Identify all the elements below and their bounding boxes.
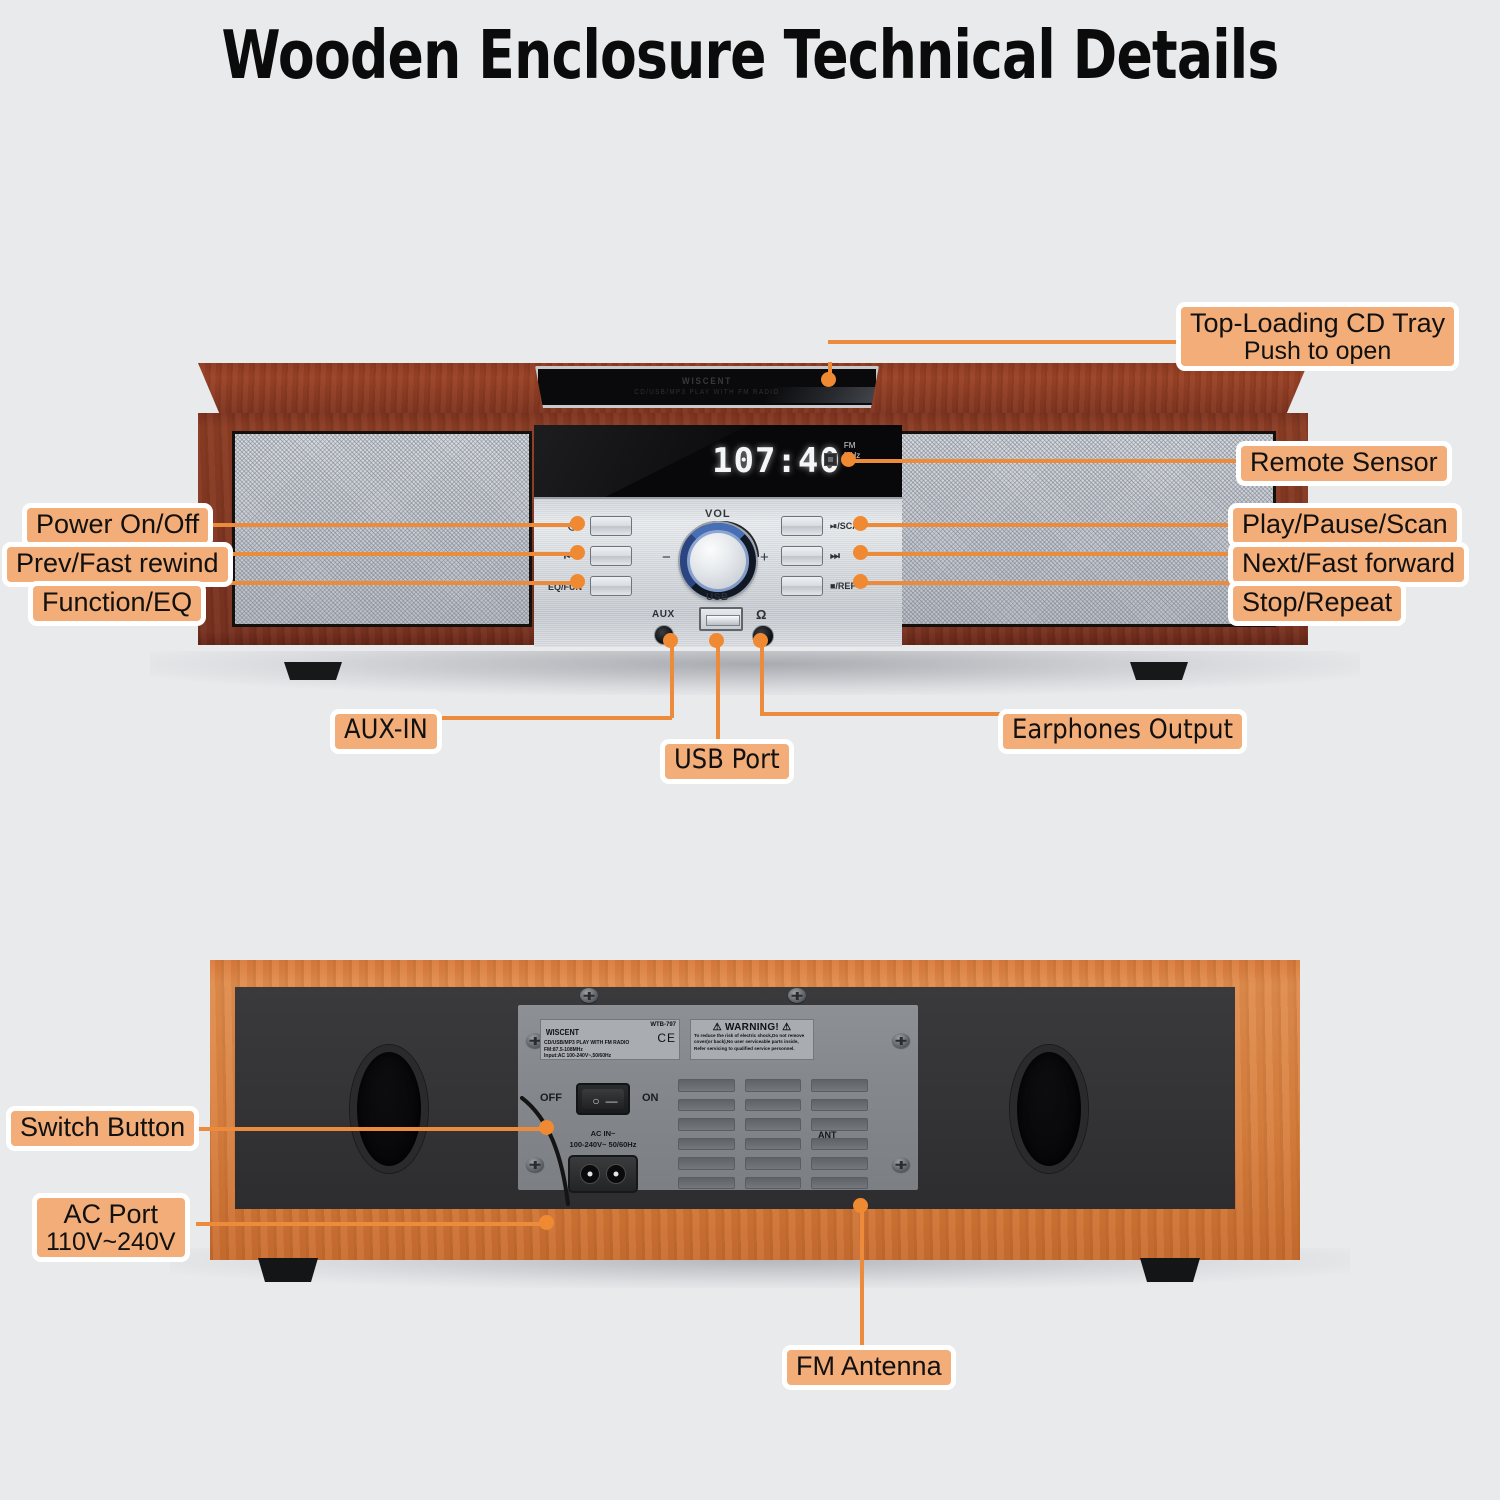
leader-dot-ac-port xyxy=(539,1215,554,1230)
callout-next-text: Next/Fast forward xyxy=(1242,548,1455,578)
leader-aux-h xyxy=(442,716,672,720)
rear-foot-left xyxy=(258,1258,318,1282)
led-display: 107:40FMMHz xyxy=(712,441,860,481)
callout-ac-port: AC Port 110V~240V xyxy=(32,1193,190,1262)
leader-dot-earphones xyxy=(753,633,768,648)
leader-switch-button xyxy=(196,1127,546,1131)
vent-slot xyxy=(745,1157,802,1170)
ac-inlet-hole-left xyxy=(580,1164,600,1184)
callout-stop-repeat-text: Stop/Repeat xyxy=(1242,587,1392,617)
warning-line-3: Refer servicing to qualified service per… xyxy=(694,1046,810,1052)
ac-inlet-hole-right xyxy=(606,1164,626,1184)
page-title: Wooden Enclosure Technical Details xyxy=(150,16,1350,94)
callout-play-pause-scan: Play/Pause/Scan xyxy=(1228,503,1462,548)
callout-aux-in: AUX-IN xyxy=(330,709,442,754)
callout-fm-antenna: FM Antenna xyxy=(782,1345,956,1390)
control-panel: ⏻ ⏮ EQ/FUN VOL − + ⏯/SCAN ⏭ ■/REP AUX US… xyxy=(534,497,902,647)
switch-bar-icon: — xyxy=(606,1094,618,1108)
headphone-icon: Ω xyxy=(756,607,767,622)
callout-usb-port: USB Port xyxy=(660,739,794,784)
vent-slot xyxy=(811,1099,868,1112)
vent-slot xyxy=(678,1138,735,1151)
leader-dot-stop-repeat xyxy=(853,574,868,589)
cd-tray-sheen xyxy=(765,387,879,403)
leader-cd-tray-h xyxy=(828,340,1180,344)
callout-switch-button-text: Switch Button xyxy=(20,1112,185,1142)
bass-port-right xyxy=(1010,1045,1088,1173)
callout-prev: Prev/Fast rewind xyxy=(2,542,233,587)
vent-slot xyxy=(745,1079,802,1092)
front-unit: WISCENT CD/USB/MP3 PLAY WITH FM RADIO 10… xyxy=(198,363,1308,663)
leader-function-eq xyxy=(186,581,576,585)
leader-aux-v xyxy=(670,640,674,718)
vent-slot xyxy=(678,1099,735,1112)
spec-line-1: CD/USB/MP3 PLAY WITH FM RADIO xyxy=(544,1040,676,1047)
leader-dot-remote-sensor xyxy=(841,452,856,467)
callout-fm-antenna-text: FM Antenna xyxy=(796,1351,942,1381)
usb-port[interactable] xyxy=(699,607,743,631)
vent-slot xyxy=(811,1177,868,1190)
power-switch-glyphs: ○ — xyxy=(578,1085,632,1117)
speaker-grille-left xyxy=(232,431,532,627)
led-value: 107:40 xyxy=(712,441,841,481)
next-button[interactable] xyxy=(781,546,823,566)
volume-label: VOL xyxy=(705,508,731,520)
aux-label: AUX xyxy=(652,609,675,620)
leader-dot-switch-button xyxy=(539,1120,554,1135)
callout-remote-sensor-text: Remote Sensor xyxy=(1250,447,1438,477)
leader-dot-usb xyxy=(709,633,724,648)
leader-earphones-h xyxy=(760,712,1005,716)
play-pause-scan-button[interactable] xyxy=(781,516,823,536)
rear-unit: WTB-797 WISCENT CD/USB/MP3 PLAY WITH FM … xyxy=(210,960,1300,1260)
callout-next: Next/Fast forward xyxy=(1228,542,1469,587)
callout-stop-repeat: Stop/Repeat xyxy=(1228,581,1406,626)
vent-slot xyxy=(811,1079,868,1092)
leader-earphones-v xyxy=(760,640,764,714)
vent-slot xyxy=(745,1177,802,1190)
rear-foot-right xyxy=(1140,1258,1200,1282)
leader-dot-cd-tray xyxy=(821,372,836,387)
leader-play-pause xyxy=(860,523,1238,527)
plate-screw-bottom-right xyxy=(892,1157,910,1172)
callout-function-eq: Function/EQ xyxy=(28,581,206,626)
leader-dot-power xyxy=(570,516,585,531)
leader-remote-sensor xyxy=(848,459,1238,463)
callout-ac-port-sub: 110V~240V xyxy=(46,1229,176,1256)
next-icon: ⏭ xyxy=(830,550,840,563)
plate-screw-top-right xyxy=(892,1033,910,1048)
rear-service-plate: WTB-797 WISCENT CD/USB/MP3 PLAY WITH FM … xyxy=(518,1005,918,1190)
leader-usb-v xyxy=(716,640,720,748)
bass-port-left xyxy=(350,1045,428,1173)
callout-aux-in-text: AUX-IN xyxy=(344,714,428,745)
remote-sensor-window xyxy=(824,453,837,466)
callout-usb-port-text: USB Port xyxy=(674,744,780,775)
leader-dot-fm-antenna xyxy=(853,1198,868,1213)
spec-brand: WISCENT xyxy=(546,1028,579,1037)
vent-slot xyxy=(678,1157,735,1170)
callout-power-text: Power On/Off xyxy=(36,509,199,539)
callout-remote-sensor: Remote Sensor xyxy=(1236,441,1452,486)
leader-dot-function-eq xyxy=(570,574,585,589)
eq-function-button[interactable] xyxy=(590,576,632,596)
ac-power-inlet[interactable] xyxy=(568,1155,638,1193)
callout-prev-text: Prev/Fast rewind xyxy=(16,548,219,578)
led-unit-top: FM xyxy=(844,441,856,450)
spec-line-3: Input:AC 100-240V~,50/60Hz xyxy=(544,1053,676,1060)
front-foot-left xyxy=(284,662,342,680)
callout-cd-tray-text: Top-Loading CD Tray xyxy=(1190,308,1445,338)
volume-minus-label: − xyxy=(662,549,671,566)
callout-play-pause-scan-text: Play/Pause/Scan xyxy=(1242,509,1448,539)
previous-button[interactable] xyxy=(590,546,632,566)
power-switch[interactable]: ○ — xyxy=(576,1083,630,1115)
vent-slot xyxy=(811,1157,868,1170)
spec-line-2: FM:87.5-108MHz xyxy=(544,1047,676,1054)
callout-cd-tray-sub: Push to open xyxy=(1190,338,1445,365)
vent-slot xyxy=(745,1099,802,1112)
stop-repeat-button[interactable] xyxy=(781,576,823,596)
leader-power xyxy=(186,523,576,527)
vent-slot xyxy=(678,1079,735,1092)
volume-plus-label: + xyxy=(760,549,769,566)
leader-prev xyxy=(186,552,576,556)
leader-dot-prev xyxy=(570,545,585,560)
leader-stop-repeat xyxy=(860,581,1238,585)
specification-label: WTB-797 WISCENT CD/USB/MP3 PLAY WITH FM … xyxy=(540,1019,680,1060)
leader-fm-antenna xyxy=(860,1205,864,1350)
callout-power: Power On/Off xyxy=(22,503,213,548)
volume-knob[interactable] xyxy=(680,523,756,599)
vent-slot xyxy=(678,1118,735,1131)
callout-cd-tray: Top-Loading CD Tray Push to open xyxy=(1176,302,1459,371)
leader-dot-play-pause xyxy=(853,516,868,531)
spec-model: WTB-797 xyxy=(650,1022,676,1028)
ce-mark-icon: CE xyxy=(657,1031,676,1045)
power-button[interactable] xyxy=(590,516,632,536)
leader-ac-port xyxy=(196,1222,546,1226)
cd-tray-subtext: CD/USB/MP3 PLAY WITH FM RADIO xyxy=(634,389,779,396)
leader-next xyxy=(860,552,1238,556)
switch-on-label: ON xyxy=(642,1092,659,1104)
warning-heading: ⚠ WARNING! ⚠ xyxy=(694,1022,810,1033)
cd-tray-brand: WISCENT xyxy=(682,376,732,386)
callout-earphones-text: Earphones Output xyxy=(1012,714,1233,745)
callout-earphones: Earphones Output xyxy=(998,709,1247,754)
front-foot-right xyxy=(1130,662,1188,680)
leader-dot-next xyxy=(853,545,868,560)
warning-label: ⚠ WARNING! ⚠ To reduce the risk of elect… xyxy=(690,1019,814,1060)
antenna-label: ANT xyxy=(818,1130,837,1140)
callout-ac-port-text: AC Port xyxy=(46,1200,176,1229)
fm-antenna-wire xyxy=(518,1096,578,1206)
screw-top-left xyxy=(580,988,598,1003)
vent-slot xyxy=(811,1118,868,1131)
vent-slot xyxy=(745,1118,802,1131)
screw-top-right xyxy=(788,988,806,1003)
warning-line-2: cover(or back),No user serviceable parts… xyxy=(694,1039,810,1045)
vent-slot xyxy=(745,1138,802,1151)
switch-circle-icon: ○ xyxy=(592,1094,599,1108)
ventilation-slots xyxy=(678,1079,868,1189)
vent-slot xyxy=(678,1177,735,1190)
callout-switch-button: Switch Button xyxy=(6,1106,199,1151)
leader-dot-aux xyxy=(663,633,678,648)
usb-label: USB xyxy=(706,592,729,603)
callout-function-eq-text: Function/EQ xyxy=(42,587,192,617)
